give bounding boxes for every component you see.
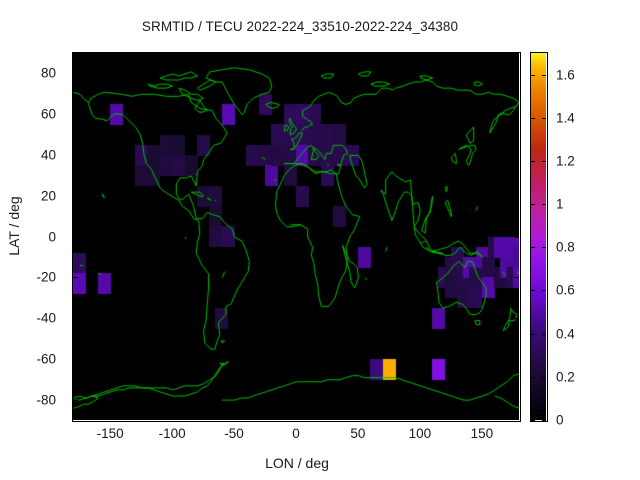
heatmap-plot-area	[73, 53, 519, 420]
y-tick-mark	[73, 359, 78, 360]
colorbar-tick-mark	[531, 290, 535, 291]
y-tick-mark	[73, 155, 78, 156]
y-tick-mark	[514, 237, 519, 238]
y-tick-label: -80	[36, 392, 56, 407]
x-tick-mark	[358, 415, 359, 420]
colorbar-tick-label: 1	[556, 197, 564, 212]
y-tick-label: 80	[41, 66, 56, 81]
y-tick-mark	[73, 73, 78, 74]
x-tick-mark	[172, 53, 173, 58]
x-tick-mark	[234, 53, 235, 58]
colorbar-tick-mark	[531, 420, 535, 421]
x-tick-label: 0	[292, 426, 300, 441]
x-tick-label: 50	[350, 426, 365, 441]
colorbar-tick-label: 0.4	[556, 326, 575, 341]
x-tick-label: -50	[224, 426, 244, 441]
x-tick-mark	[110, 53, 111, 58]
colorbar-tick-label: 0.2	[556, 369, 575, 384]
x-axis-title: LON / deg	[0, 455, 594, 471]
x-tick-mark	[172, 415, 173, 420]
colorbar-tick-mark	[542, 204, 546, 205]
x-tick-mark	[420, 53, 421, 58]
x-tick-mark	[482, 53, 483, 58]
y-tick-label: 20	[41, 188, 56, 203]
colorbar-tick-mark	[531, 204, 535, 205]
colorbar-gradient	[531, 53, 546, 420]
y-tick-mark	[73, 318, 78, 319]
plot-figure: SRMTID / TECU 2022-224_33510-2022-224_34…	[0, 0, 640, 480]
y-axis-title: LAT / deg	[6, 166, 22, 286]
colorbar-tick-label: 1.6	[556, 67, 575, 82]
x-tick-label: 100	[409, 426, 432, 441]
x-tick-mark	[420, 415, 421, 420]
colorbar-tick-label: 0.6	[556, 283, 575, 298]
colorbar-tick-mark	[531, 247, 535, 248]
colorbar-tick-mark	[531, 334, 535, 335]
x-tick-mark	[358, 53, 359, 58]
colorbar-tick-label: 1.4	[556, 110, 575, 125]
colorbar-tick-mark	[542, 75, 546, 76]
colorbar-tick-mark	[542, 377, 546, 378]
colorbar-tick-label: 0.8	[556, 240, 575, 255]
x-tick-mark	[296, 415, 297, 420]
x-tick-label: 150	[471, 426, 494, 441]
colorbar-tick-mark	[531, 377, 535, 378]
y-tick-label: 60	[41, 107, 56, 122]
colorbar-tick-label: 0	[556, 413, 564, 428]
y-tick-label: -20	[36, 270, 56, 285]
x-tick-mark	[482, 415, 483, 420]
x-tick-mark	[296, 53, 297, 58]
y-tick-mark	[73, 400, 78, 401]
y-tick-mark	[514, 318, 519, 319]
y-tick-label: 40	[41, 147, 56, 162]
colorbar-tick-mark	[531, 161, 535, 162]
y-tick-mark	[73, 277, 78, 278]
y-tick-mark	[73, 114, 78, 115]
x-tick-mark	[234, 415, 235, 420]
y-tick-mark	[514, 359, 519, 360]
y-tick-mark	[514, 155, 519, 156]
colorbar-tick-mark	[542, 118, 546, 119]
y-tick-mark	[514, 114, 519, 115]
colorbar-tick-mark	[531, 118, 535, 119]
x-tick-label: -100	[159, 426, 186, 441]
colorbar-tick-mark	[531, 75, 535, 76]
colorbar-tick-mark	[542, 290, 546, 291]
colorbar-tick-mark	[542, 247, 546, 248]
y-tick-mark	[73, 196, 78, 197]
colorbar-tick-mark	[542, 420, 546, 421]
x-tick-mark	[110, 415, 111, 420]
colorbar-tick-mark	[542, 334, 546, 335]
y-tick-label: 0	[48, 229, 56, 244]
y-tick-mark	[514, 73, 519, 74]
y-tick-mark	[514, 196, 519, 197]
y-tick-label: -40	[36, 311, 56, 326]
y-tick-label: -60	[36, 351, 56, 366]
colorbar-tick-mark	[542, 161, 546, 162]
x-tick-label: -150	[97, 426, 124, 441]
y-tick-mark	[514, 400, 519, 401]
y-tick-mark	[514, 277, 519, 278]
colorbar-tick-label: 1.2	[556, 153, 575, 168]
page-title: SRMTID / TECU 2022-224_33510-2022-224_34…	[0, 19, 600, 34]
y-tick-mark	[73, 237, 78, 238]
